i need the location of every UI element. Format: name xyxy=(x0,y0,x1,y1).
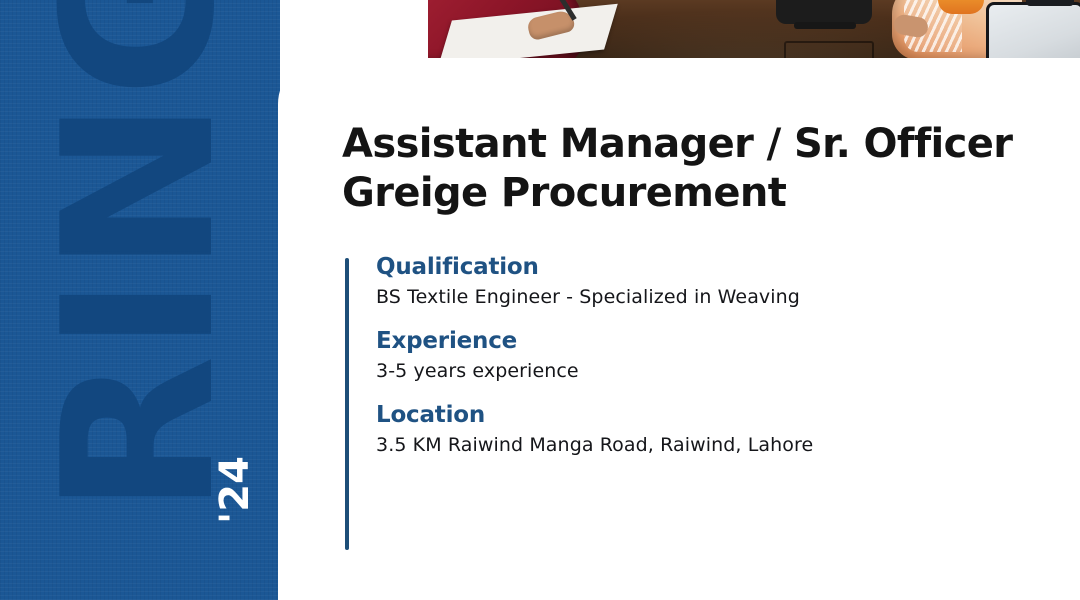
laptop-icon xyxy=(986,2,1080,58)
detail-value-experience: 3-5 years experience xyxy=(376,360,1022,382)
job-title-line-1: Assistant Manager / Sr. Officer xyxy=(342,121,1012,167)
detail-label-experience: Experience xyxy=(376,328,1022,354)
laptop-hinge xyxy=(1026,0,1074,6)
accent-bar xyxy=(345,258,349,550)
interview-photo xyxy=(428,0,1080,58)
table-seam xyxy=(784,41,874,58)
detail-label-location: Location xyxy=(376,402,1022,428)
content-card: Assistant Manager / Sr. Officer Greige P… xyxy=(278,58,1080,600)
detail-item-location: Location 3.5 KM Raiwind Manga Road, Raiw… xyxy=(376,402,1022,456)
job-title: Assistant Manager / Sr. Officer Greige P… xyxy=(342,120,1042,218)
orange-dupatta xyxy=(938,0,984,14)
year-badge: '24 xyxy=(212,456,258,524)
job-details: Qualification BS Textile Engineer - Spec… xyxy=(342,254,1022,456)
job-posting-poster: RING '24 Assistant Manager / Sr. Officer… xyxy=(0,0,1080,600)
chair-center-icon xyxy=(776,0,872,24)
detail-item-experience: Experience 3-5 years experience xyxy=(376,328,1022,382)
detail-list: Qualification BS Textile Engineer - Spec… xyxy=(342,254,1022,456)
job-title-line-2: Greige Procurement xyxy=(342,170,786,216)
detail-item-qualification: Qualification BS Textile Engineer - Spec… xyxy=(376,254,1022,308)
detail-value-location: 3.5 KM Raiwind Manga Road, Raiwind, Laho… xyxy=(376,434,1022,456)
chair-center-base xyxy=(794,22,856,29)
detail-label-qualification: Qualification xyxy=(376,254,1022,280)
detail-value-qualification: BS Textile Engineer - Specialized in Wea… xyxy=(376,286,1022,308)
